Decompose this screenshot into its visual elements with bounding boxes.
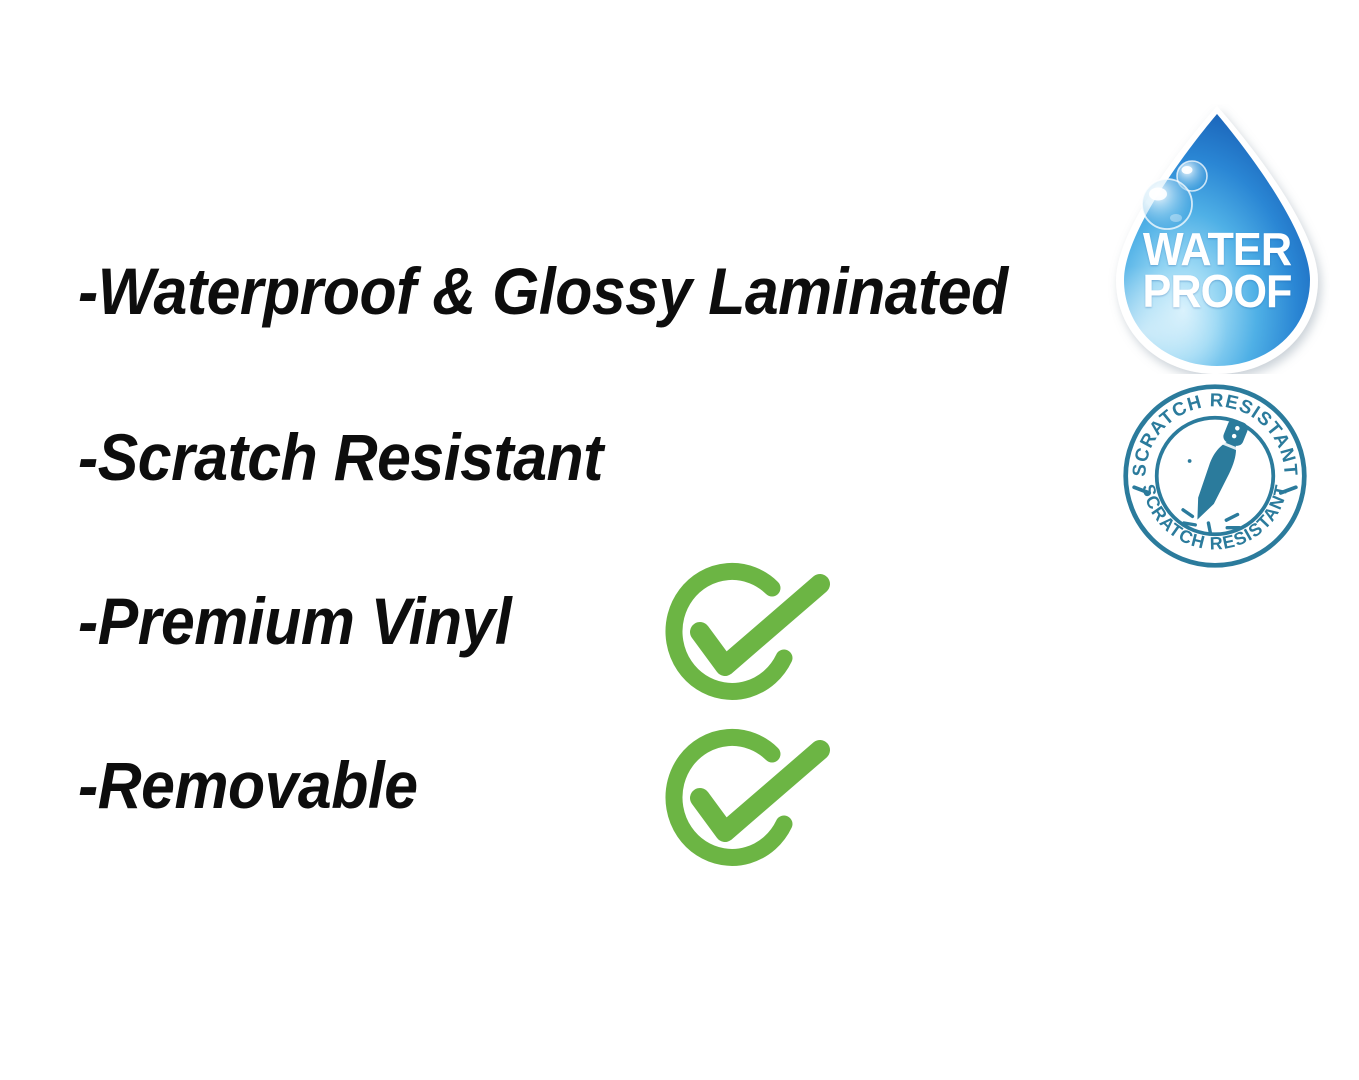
green-check-circle-icon-removable <box>640 728 840 878</box>
feature-label-premium-vinyl: -Premium Vinyl <box>78 588 511 654</box>
water-bubble-large <box>1142 179 1192 229</box>
checkmark-stroke <box>700 750 820 832</box>
feature-label-scratch-resistant: -Scratch Resistant <box>78 424 603 490</box>
green-check-circle-icon-premium-vinyl <box>640 562 840 712</box>
feature-list-graphic: -Waterproof & Glossy Laminated -Scratch … <box>0 0 1359 1080</box>
checkmark-stroke <box>700 584 820 666</box>
knife-icon <box>1189 417 1252 526</box>
waterproof-drop-badge: WATER PROOF <box>1104 104 1330 374</box>
feature-label-waterproof-glossy: -Waterproof & Glossy Laminated <box>78 258 1008 324</box>
scratch-resistant-stamp-badge: SCRATCH RESISTANT SCRATCH RESISTANT <box>1117 382 1313 570</box>
feature-label-removable: -Removable <box>78 752 418 818</box>
